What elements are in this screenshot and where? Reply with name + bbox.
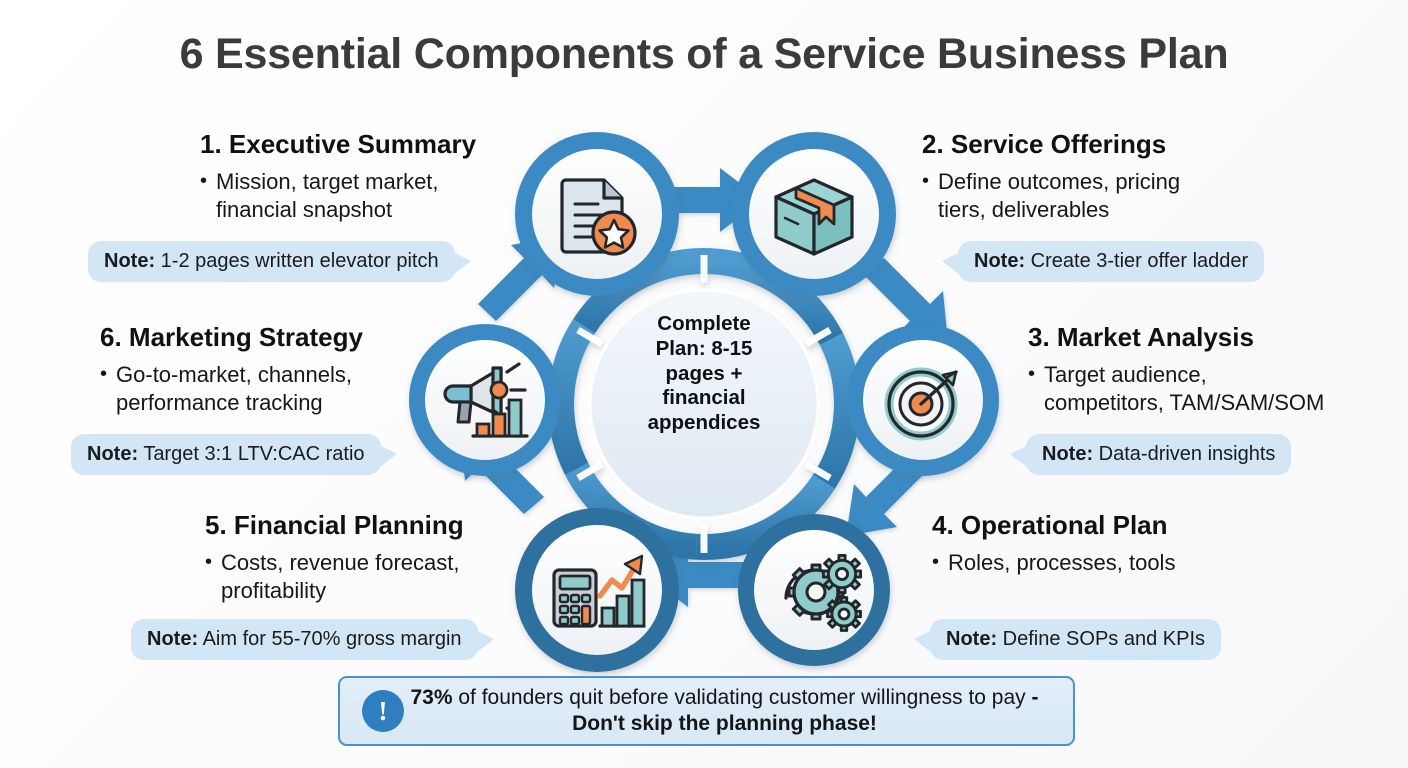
bullet-dot: • (1028, 361, 1035, 417)
step-6-bullet: • Go-to-market, channels, performance tr… (100, 361, 440, 417)
step-1-note-text: 1-2 pages written elevator pitch (161, 250, 439, 272)
step-2-heading: 2. Service Offerings (922, 130, 1262, 160)
step-5-note: Note: Aim for 55-70% gross margin (131, 619, 478, 660)
banner-stat: 73% (410, 686, 452, 709)
bullet-dot: • (205, 549, 212, 605)
node-2-service-offerings[interactable] (732, 132, 896, 296)
step-3-text-block: 3. Market Analysis • Target audience, co… (1028, 323, 1378, 417)
step-2-bullet: • Define outcomes, pricing tiers, delive… (922, 168, 1262, 224)
step-5-note-label: Note: (147, 628, 198, 650)
step-4-heading: 4. Operational Plan (932, 511, 1272, 541)
step-2-bullet-line-2: tiers, deliverables (938, 196, 1180, 224)
step-2-bullet-line-1: Define outcomes, pricing (938, 168, 1180, 196)
step-1-bullet-line-2: financial snapshot (216, 196, 439, 224)
step-4-bullet-line-1: Roles, processes, tools (948, 549, 1175, 577)
step-5-note-text: Aim for 55-70% gross margin (203, 628, 462, 650)
step-3-note-text: Data-driven insights (1099, 443, 1276, 465)
step-2-note-label: Note: (974, 250, 1025, 272)
step-3-heading: 3. Market Analysis (1028, 323, 1378, 353)
hub-line-2: Plan: 8-15 (604, 337, 804, 362)
step-5-bullet-line-1: Costs, revenue forecast, (221, 549, 459, 577)
node-4-operational-plan[interactable] (738, 514, 890, 666)
hub-line-5: appendices (604, 411, 804, 436)
node-5-financial-planning[interactable] (515, 508, 679, 672)
bullet-dot: • (200, 168, 207, 224)
step-3-note-label: Note: (1042, 443, 1093, 465)
step-5-bullet-line-2: profitability (221, 577, 459, 605)
step-5-heading: 5. Financial Planning (205, 511, 535, 541)
step-6-note-label: Note: (87, 443, 138, 465)
warning-banner: ! 73% of founders quit before validating… (338, 676, 1075, 746)
step-4-text-block: 4. Operational Plan • Roles, processes, … (932, 511, 1272, 577)
banner-text: 73% of founders quit before validating c… (404, 685, 1073, 738)
node-1-executive-summary[interactable] (515, 132, 679, 296)
target-arrow-icon (889, 372, 956, 436)
step-4-note-text: Define SOPs and KPIs (1003, 628, 1205, 650)
step-1-text-block: 1. Executive Summary • Mission, target m… (200, 130, 530, 224)
step-1-note-label: Note: (104, 250, 155, 272)
step-3-bullet: • Target audience, competitors, TAM/SAM/… (1028, 361, 1378, 417)
step-6-text-block: 6. Marketing Strategy • Go-to-market, ch… (100, 323, 440, 417)
step-6-note: Note: Target 3:1 LTV:CAC ratio (71, 434, 381, 475)
step-5-bullet: • Costs, revenue forecast, profitability (205, 549, 535, 605)
step-1-note: Note: 1-2 pages written elevator pitch (88, 241, 455, 282)
step-1-heading: 1. Executive Summary (200, 130, 530, 160)
infographic-canvas: 6 Essential Components of a Service Busi… (0, 0, 1408, 768)
banner-body: of founders quit before validating custo… (453, 686, 1032, 709)
node-3-market-analysis[interactable] (847, 324, 999, 476)
step-5-text-block: 5. Financial Planning • Costs, revenue f… (205, 511, 535, 605)
step-4-bullet: • Roles, processes, tools (932, 549, 1272, 577)
bullet-dot: • (932, 549, 939, 577)
hub-line-1: Complete (604, 312, 804, 337)
bullet-dot: • (922, 168, 929, 224)
package-box-icon (776, 180, 852, 254)
hub-line-4: financial (604, 386, 804, 411)
step-3-bullet-line-1: Target audience, (1044, 361, 1324, 389)
step-6-bullet-line-2: performance tracking (116, 389, 352, 417)
hub-line-3: pages + (604, 362, 804, 387)
step-2-note: Note: Create 3-tier offer ladder (958, 241, 1264, 282)
step-6-bullet-line-1: Go-to-market, channels, (116, 361, 352, 389)
step-3-note: Note: Data-driven insights (1026, 434, 1291, 475)
step-6-heading: 6. Marketing Strategy (100, 323, 440, 353)
step-3-bullet-line-2: competitors, TAM/SAM/SOM (1044, 389, 1324, 417)
step-2-text-block: 2. Service Offerings • Define outcomes, … (922, 130, 1262, 224)
bullet-dot: • (100, 361, 107, 417)
hub-label: Complete Plan: 8-15 pages + financial ap… (604, 312, 804, 436)
step-2-note-text: Create 3-tier offer ladder (1031, 250, 1249, 272)
exclamation-icon: ! (362, 690, 404, 732)
step-4-note-label: Note: (946, 628, 997, 650)
step-1-bullet: • Mission, target market, financial snap… (200, 168, 530, 224)
step-1-bullet-line-1: Mission, target market, (216, 168, 439, 196)
step-4-note: Note: Define SOPs and KPIs (930, 619, 1221, 660)
step-6-note-text: Target 3:1 LTV:CAC ratio (143, 443, 364, 465)
